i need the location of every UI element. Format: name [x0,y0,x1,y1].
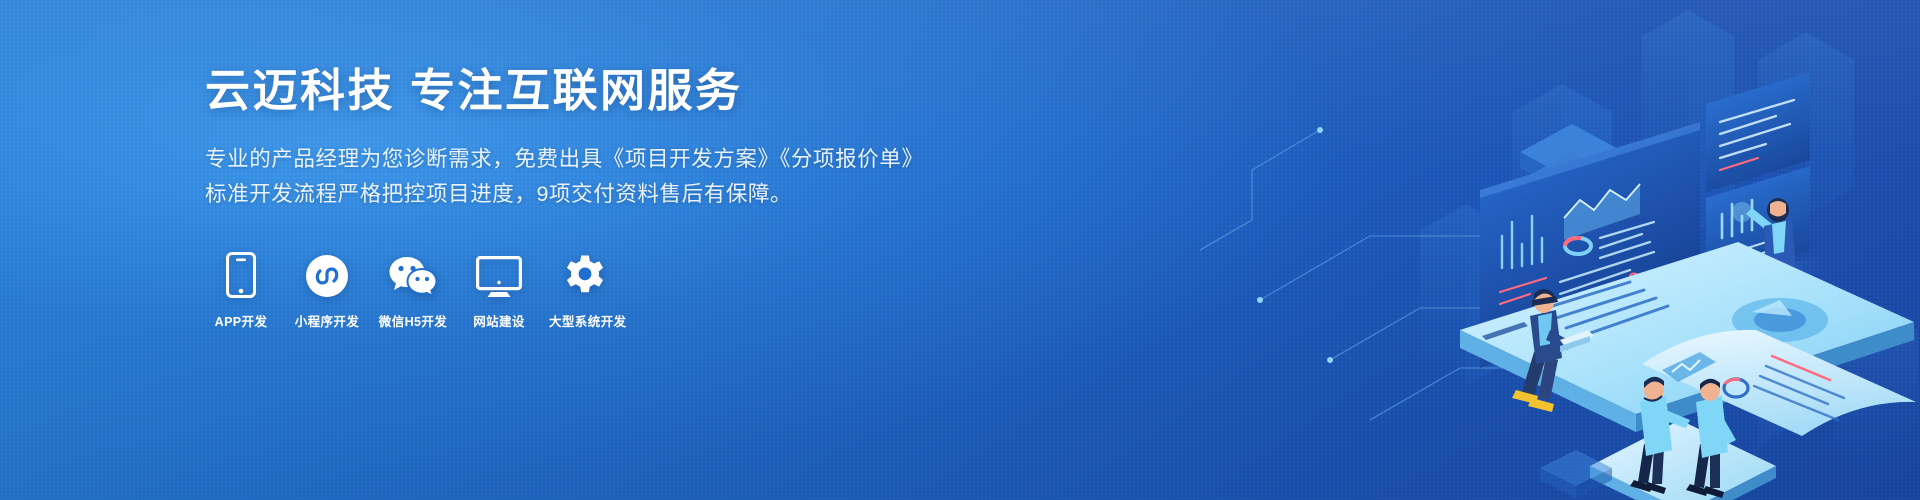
service-label-app: APP开发 [205,311,277,330]
subtitle-line-1: 专业的产品经理为您诊断需求，免费出具《项目开发方案》《分项报价单》 [205,142,905,177]
hero-subtitle: 专业的产品经理为您诊断需求，免费出具《项目开发方案》《分项报价单》 标准开发流程… [205,142,905,212]
service-label-website: 网站建设 [463,311,535,330]
mobile-phone-icon [205,248,277,298]
service-label-miniprogram: 小程序开发 [291,311,363,330]
hero-copy-block: 云迈科技 专注互联网服务 专业的产品经理为您诊断需求，免费出具《项目开发方案》《… [205,64,905,330]
hero-banner: 云迈科技 专注互联网服务 专业的产品经理为您诊断需求，免费出具《项目开发方案》《… [0,0,1920,500]
gear-icon [549,248,621,298]
service-item-app[interactable]: APP开发 [205,248,277,330]
mini-program-icon [291,248,363,298]
service-item-system[interactable]: 大型系统开发 [549,248,621,330]
service-item-website[interactable]: 网站建设 [463,248,535,330]
service-item-miniprogram[interactable]: 小程序开发 [291,248,363,330]
page-title: 云迈科技 专注互联网服务 [205,64,905,118]
service-item-wechat[interactable]: 微信H5开发 [377,248,449,330]
isometric-tech-dashboard-illustration [900,0,1920,500]
service-label-system: 大型系统开发 [549,311,621,330]
subtitle-line-2: 标准开发流程严格把控项目进度，9项交付资料售后有保障。 [205,177,905,212]
service-label-wechat: 微信H5开发 [377,311,449,330]
floating-iso-cubes [1540,450,1612,498]
service-icon-row: APP开发 小程序开发 [205,248,905,330]
wechat-icon [377,248,449,298]
desktop-monitor-icon [463,248,535,298]
